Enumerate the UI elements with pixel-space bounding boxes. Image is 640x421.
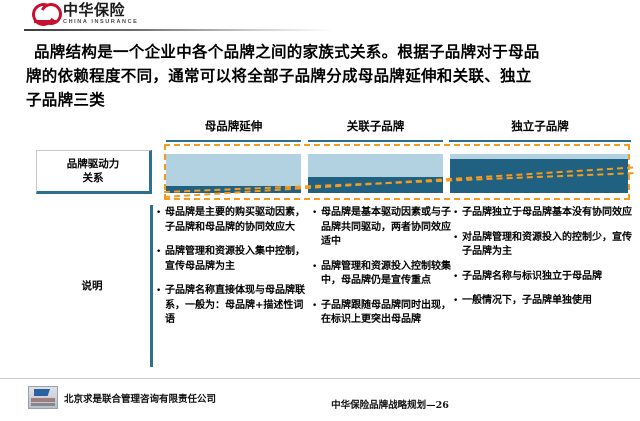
row-label-description: 说明 xyxy=(36,205,148,367)
list-item-text: 子品牌独立于母品牌基本没有协同效应 xyxy=(462,206,633,221)
list-item-text: 品牌管理和资源投入控制较集中，母品牌仍是宣传重点 xyxy=(321,260,452,289)
list-item: • 对品牌管理和资源投入的控制少，宣传子品牌为主 xyxy=(453,231,633,260)
bullet-list-endorsed-sub-brand: • 母品牌是基本驱动因素或与子品牌共同驱动，两者协同效应适中 • 品牌管理和资源… xyxy=(312,206,452,338)
bullet-icon: • xyxy=(312,206,321,250)
bullet-icon: • xyxy=(453,270,462,285)
list-item: • 子品牌名称直接体现与母品牌联系，一般为：母品牌+描述性词语 xyxy=(156,284,306,328)
list-item: • 子品牌跟随母品牌同时出现，在标识上更突出母品牌 xyxy=(312,299,452,328)
column-header-independent-sub-brand: 独立子品牌 xyxy=(449,118,631,142)
bullet-icon: • xyxy=(453,294,462,309)
row-label-brand-driver-relation: 品牌驱动力 关系 xyxy=(36,150,152,194)
bullet-icon: • xyxy=(156,284,165,328)
list-item: • 母品牌是主要的购买驱动因素，子品牌和母品牌的协同效应大 xyxy=(156,206,306,235)
column-header-parent-brand-extension: 母品牌延伸 xyxy=(166,118,301,142)
footer-page-label: 中华保险品牌战略规划—26 xyxy=(0,397,640,411)
list-item: • 品牌管理和资源投入集中控制，宣传母品牌为主 xyxy=(156,245,306,274)
bullet-icon: • xyxy=(312,260,321,289)
list-item-text: 一般情况下，子品牌单独使用 xyxy=(462,294,633,309)
list-item: • 一般情况下，子品牌单独使用 xyxy=(453,294,633,309)
list-item: • 母品牌是基本驱动因素或与子品牌共同驱动，两者协同效应适中 xyxy=(312,206,452,250)
footer-divider xyxy=(0,378,640,379)
description-row-divider xyxy=(150,205,153,367)
brand-structure-matrix: 母品牌延伸 关联子品牌 独立子品牌 品牌驱动力 关系 说明 • 母品牌是主要的购… xyxy=(0,0,640,421)
list-item-text: 子品牌名称直接体现与母品牌联系，一般为：母品牌+描述性词语 xyxy=(165,284,306,328)
list-item: • 品牌管理和资源投入控制较集中，母品牌仍是宣传重点 xyxy=(312,260,452,289)
list-item-text: 子品牌名称与标识独立于母品牌 xyxy=(462,270,633,285)
list-item-text: 母品牌是基本驱动因素或与子品牌共同驱动，两者协同效应适中 xyxy=(321,206,452,250)
bullet-icon: • xyxy=(156,206,165,235)
list-item: • 子品牌名称与标识独立于母品牌 xyxy=(453,270,633,285)
column-header-endorsed-sub-brand: 关联子品牌 xyxy=(308,118,443,142)
list-item: • 子品牌独立于母品牌基本没有协同效应 xyxy=(453,206,633,221)
list-item-text: 品牌管理和资源投入集中控制，宣传母品牌为主 xyxy=(165,245,306,274)
row-label-brand-driver-relation-line-1: 品牌驱动力 xyxy=(67,157,120,171)
row-label-brand-driver-relation-line-2: 关系 xyxy=(67,171,120,185)
bullet-icon: • xyxy=(312,299,321,328)
bullet-list-parent-brand-extension: • 母品牌是主要的购买驱动因素，子品牌和母品牌的协同效应大 • 品牌管理和资源投… xyxy=(156,206,306,338)
list-item-text: 母品牌是主要的购买驱动因素，子品牌和母品牌的协同效应大 xyxy=(165,206,306,235)
bullet-list-independent-sub-brand: • 子品牌独立于母品牌基本没有协同效应 • 对品牌管理和资源投入的控制少，宣传子… xyxy=(453,206,633,319)
bullet-icon: • xyxy=(453,206,462,221)
list-item-text: 子品牌跟随母品牌同时出现，在标识上更突出母品牌 xyxy=(321,299,452,328)
bullet-icon: • xyxy=(156,245,165,274)
bullet-icon: • xyxy=(453,231,462,260)
list-item-text: 对品牌管理和资源投入的控制少，宣传子品牌为主 xyxy=(462,231,633,260)
